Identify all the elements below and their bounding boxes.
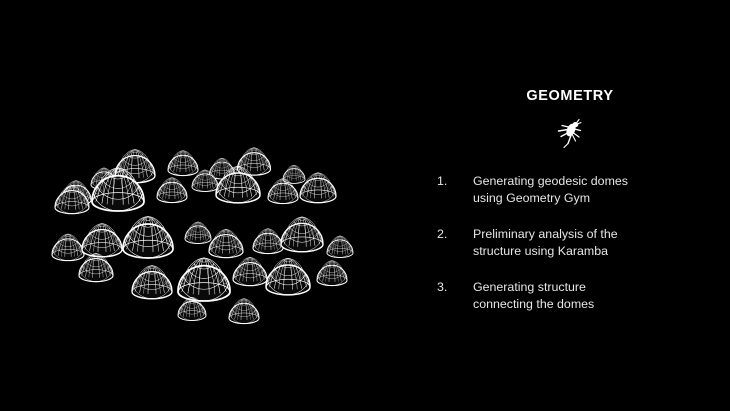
list-item-line1: Preliminary analysis of the [473, 226, 720, 243]
dome-group-front-row [79, 253, 347, 323]
ant-figure-icon [420, 114, 720, 152]
ant-figure-icon-svg [555, 117, 585, 149]
list-item-line1: Generating geodesic domes [473, 173, 720, 190]
list-item: 2. Preliminary analysis of the structure… [437, 226, 720, 259]
list-item-line2: connecting the domes [473, 296, 720, 313]
list-item-number: 1. [437, 173, 459, 190]
presentation-slide: GEOMETRY [0, 0, 730, 411]
list-item: 3. Generating structure connecting the d… [437, 279, 720, 312]
content-panel: GEOMETRY [420, 78, 720, 348]
list-item: 1. Generating geodesic domes using Geome… [437, 173, 720, 206]
list-item-number: 2. [437, 226, 459, 243]
list-item-line2: using Geometry Gym [473, 190, 720, 207]
list-item-line1: Generating structure [473, 279, 720, 296]
geodesic-dome-cluster-image [40, 132, 370, 342]
page-title: GEOMETRY [420, 88, 720, 104]
agenda-list: 1. Generating geodesic domes using Geome… [437, 173, 720, 312]
list-item-line2: structure using Karamba [473, 243, 720, 260]
dome-cluster-svg [40, 132, 370, 342]
list-item-number: 3. [437, 279, 459, 296]
